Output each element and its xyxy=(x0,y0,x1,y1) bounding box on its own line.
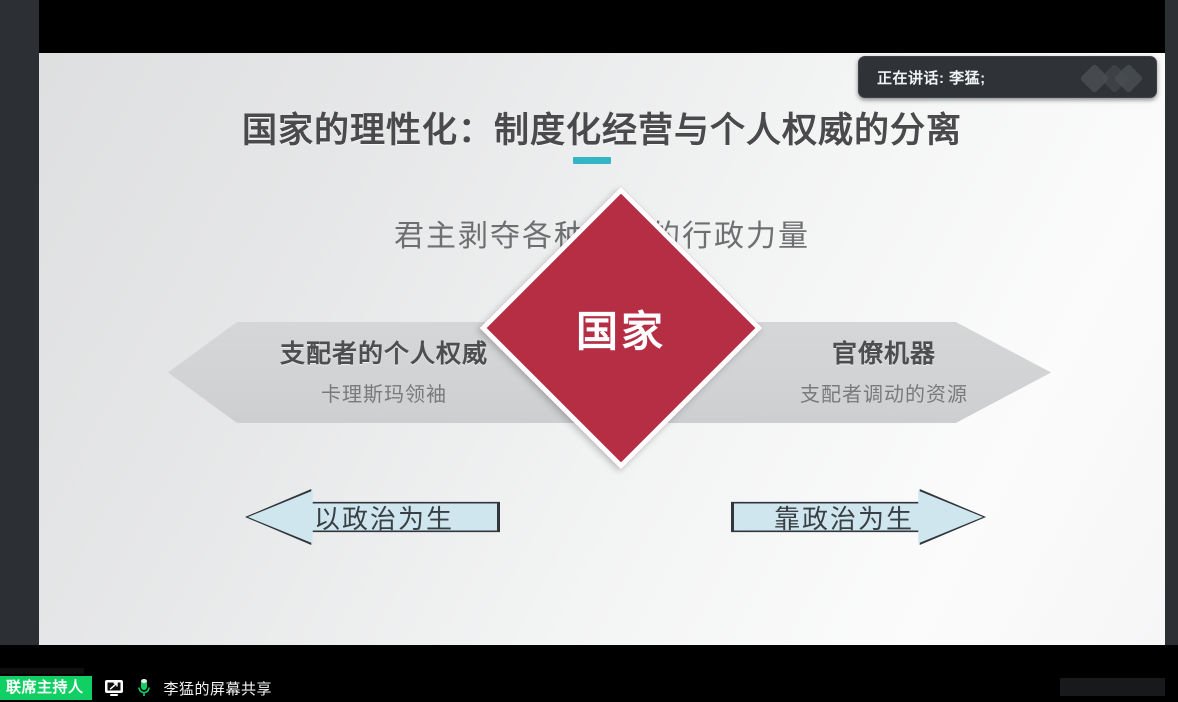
role-badge: 联席主持人 xyxy=(0,676,92,700)
arrow-right-label: 靠政治为生 xyxy=(739,489,949,545)
tencent-meeting-logo-icon xyxy=(1080,62,1144,92)
window-right-chrome xyxy=(1165,0,1178,672)
banner-right-subheading: 支配者调动的资源 xyxy=(739,370,1029,407)
meeting-window: 国家的理性化：制度化经营与个人权威的分离 君主剥夺各种独立的行政力量 支配者的个… xyxy=(0,0,1178,702)
slide-title: 国家的理性化：制度化经营与个人权威的分离 xyxy=(39,102,1165,153)
status-bar: 联席主持人 李猛的屏幕共享 xyxy=(0,674,1178,702)
screen-share-label: 李猛的屏幕共享 xyxy=(164,678,273,699)
title-accent-bar xyxy=(573,157,611,164)
shared-screen-slide: 国家的理性化：制度化经营与个人权威的分离 君主剥夺各种独立的行政力量 支配者的个… xyxy=(39,53,1165,645)
diamond-label: 国家 xyxy=(503,210,739,446)
center-diamond: 国家 xyxy=(503,210,739,446)
window-left-chrome xyxy=(0,0,39,672)
banner-right-heading: 官僚机器 xyxy=(739,322,1029,370)
active-speaker-badge[interactable]: 正在讲话: 李猛; xyxy=(858,56,1157,98)
banner-left-subheading: 卡理斯玛领袖 xyxy=(229,370,539,407)
screen-share-icon[interactable] xyxy=(104,679,124,697)
banner-right: 官僚机器 支配者调动的资源 xyxy=(739,322,1029,423)
active-speaker-label: 正在讲话: 李猛; xyxy=(859,67,1080,88)
window-top-chrome xyxy=(39,0,1165,53)
microphone-icon[interactable] xyxy=(136,678,152,698)
arrow-left-label: 以政治为生 xyxy=(279,489,489,545)
